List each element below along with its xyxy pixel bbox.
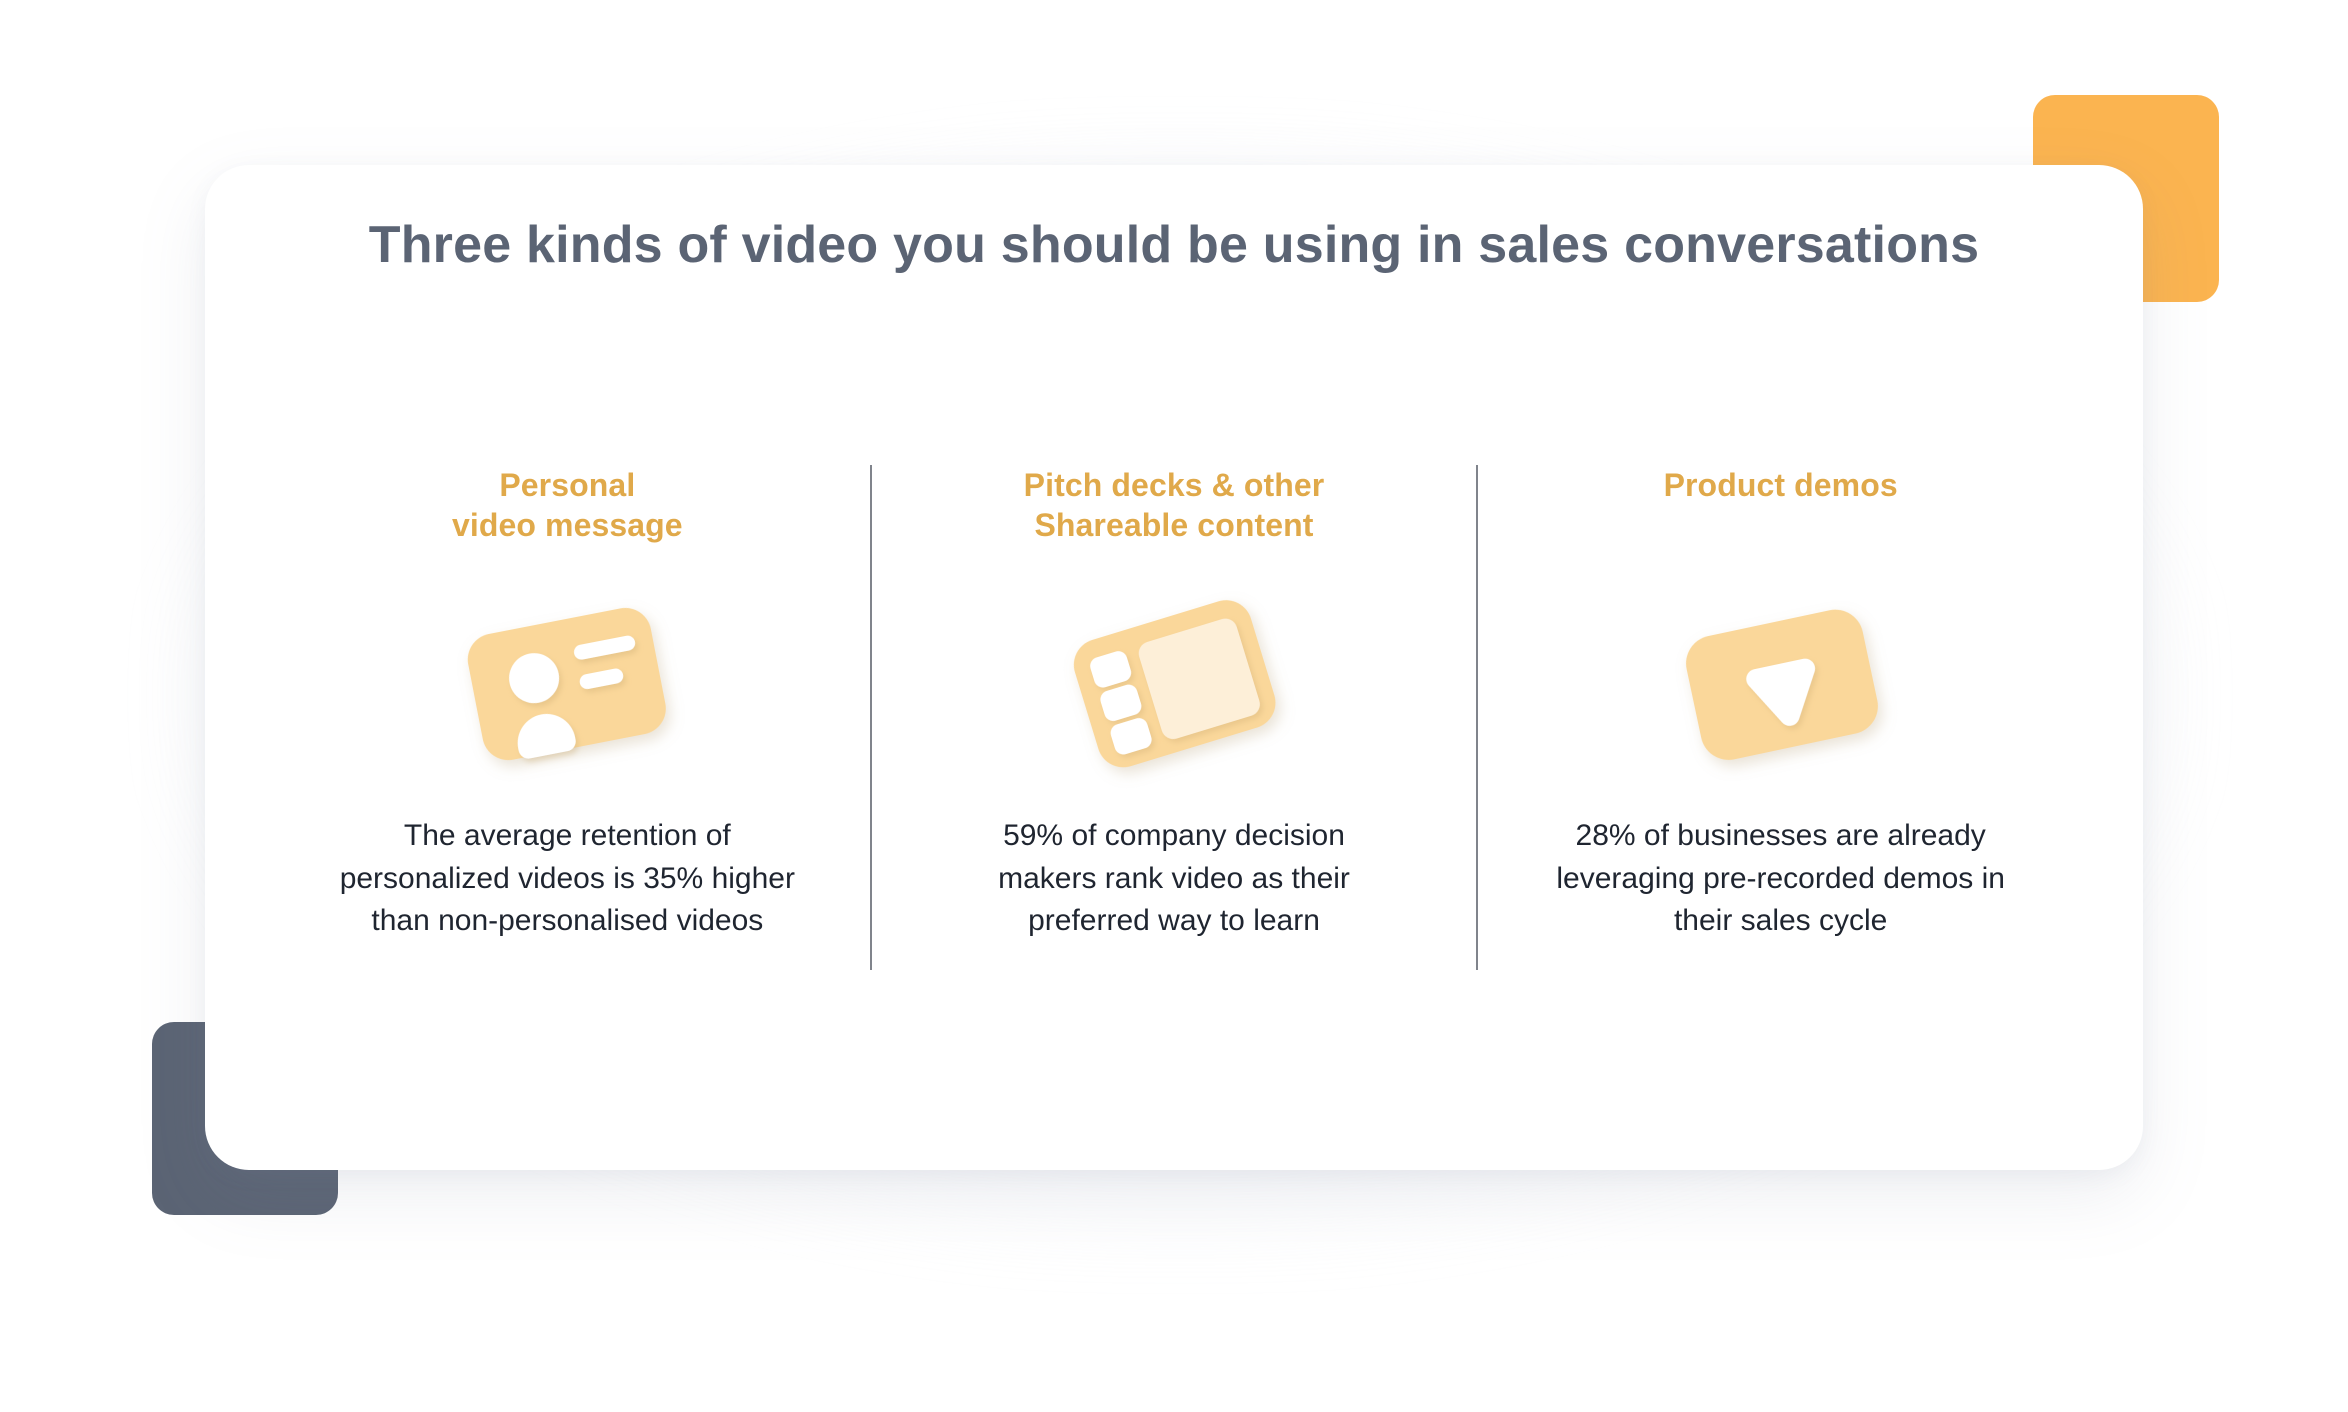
- column-heading: Pitch decks & other Shareable content: [1024, 465, 1325, 549]
- column-heading-line-1: Personal: [452, 465, 683, 505]
- icon-container: [1059, 555, 1289, 815]
- column-divider-2: [1476, 465, 1478, 970]
- column-personal-video-message: Personal video message: [265, 465, 870, 943]
- column-pitch-decks: Pitch decks & other Shareable content: [872, 465, 1477, 943]
- column-divider-1: [870, 465, 872, 970]
- column-heading-line-1: Pitch decks & other: [1024, 465, 1325, 505]
- column-body-text: The average retention of personalized vi…: [337, 815, 797, 943]
- content-card: Three kinds of video you should be using…: [205, 165, 2143, 1170]
- contact-card-icon: [452, 590, 682, 780]
- column-heading: Personal video message: [452, 465, 683, 549]
- column-body-text: 59% of company decision makers rank vide…: [959, 815, 1389, 943]
- icon-container: [1666, 555, 1896, 815]
- column-heading-line-1: Product demos: [1664, 465, 1898, 505]
- columns-container: Personal video message: [265, 465, 2083, 970]
- column-heading-line-2: Shareable content: [1024, 505, 1325, 545]
- slide-canvas: Three kinds of video you should be using…: [0, 0, 2348, 1412]
- page-title: Three kinds of video you should be using…: [205, 215, 2143, 275]
- icon-container: [452, 555, 682, 815]
- slide-deck-icon: [1059, 590, 1289, 780]
- column-product-demos: Product demos: [1478, 465, 2083, 943]
- column-heading-line-2: video message: [452, 505, 683, 545]
- column-heading: Product demos: [1664, 465, 1898, 549]
- column-body-text: 28% of businesses are already leveraging…: [1546, 815, 2016, 943]
- play-video-icon: [1666, 590, 1896, 780]
